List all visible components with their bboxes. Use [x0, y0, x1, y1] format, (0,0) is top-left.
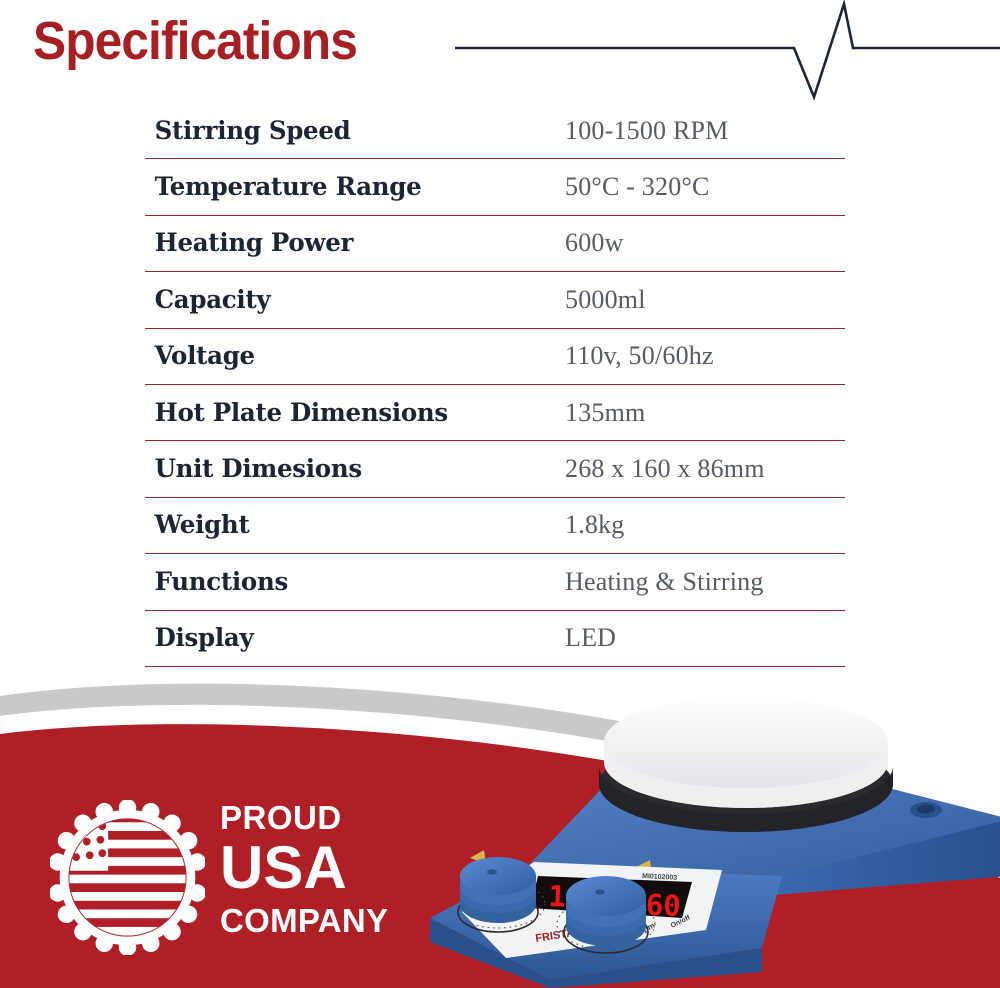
spec-value: 135mm	[565, 398, 845, 428]
table-row: Hot Plate Dimensions 135mm	[145, 385, 845, 441]
spec-label: Weight	[145, 510, 548, 540]
spec-value: Heating & Stirring	[565, 567, 845, 597]
table-row: Stirring Speed 100-1500 RPM	[145, 103, 845, 159]
page-title: Specifications	[33, 14, 357, 68]
spec-value: 1.8kg	[565, 510, 845, 540]
ceramic-plate	[604, 696, 888, 788]
spec-value: LED	[565, 623, 845, 653]
table-row: Capacity 5000ml	[145, 272, 845, 328]
spec-value: 5000ml	[565, 285, 845, 315]
proud-usa-company-badge: PROUD USA COMPANY	[42, 795, 412, 960]
table-row: Functions Heating & Stirring	[145, 554, 845, 610]
table-row: Temperature Range 50°C - 320°C	[145, 159, 845, 215]
temperature-knob[interactable]	[460, 857, 536, 923]
table-row: Heating Power 600w	[145, 216, 845, 272]
table-row: Display LED	[145, 611, 845, 667]
specifications-table: Stirring Speed 100-1500 RPM Temperature …	[145, 103, 845, 667]
specifications-page: Specifications Stirring Speed 100-1500 R…	[0, 0, 1000, 988]
spec-label: Functions	[145, 567, 548, 597]
spec-label: Voltage	[145, 341, 548, 371]
spec-value: 110v, 50/60hz	[565, 341, 845, 371]
spec-label: Display	[145, 623, 548, 653]
spec-value: 50°C - 320°C	[565, 172, 845, 202]
table-row: Weight 1.8kg	[145, 498, 845, 554]
spec-value: 600w	[565, 228, 845, 258]
spec-label: Unit Dimesions	[145, 454, 548, 484]
spec-label: Heating Power	[145, 228, 548, 258]
spec-label: Hot Plate Dimensions	[145, 398, 548, 428]
spec-label: Temperature Range	[145, 172, 548, 202]
spec-value: 268 x 160 x 86mm	[565, 454, 845, 484]
spec-label: Stirring Speed	[145, 116, 548, 146]
table-row: Voltage 110v, 50/60hz	[145, 329, 845, 385]
stirring-speed-knob[interactable]	[566, 876, 646, 946]
table-row: Unit Dimesions 268 x 160 x 86mm	[145, 441, 845, 497]
product-image-hotplate-stirrer: 105.0 260 MI0102003 °C rpm On/off FRISTA…	[410, 680, 1000, 988]
page-header: Specifications	[0, 0, 1000, 110]
spec-value: 100-1500 RPM	[565, 116, 845, 146]
heartbeat-line-icon	[455, 0, 1000, 110]
usa-flag-stamp-icon	[50, 800, 205, 955]
spec-label: Capacity	[145, 285, 548, 315]
